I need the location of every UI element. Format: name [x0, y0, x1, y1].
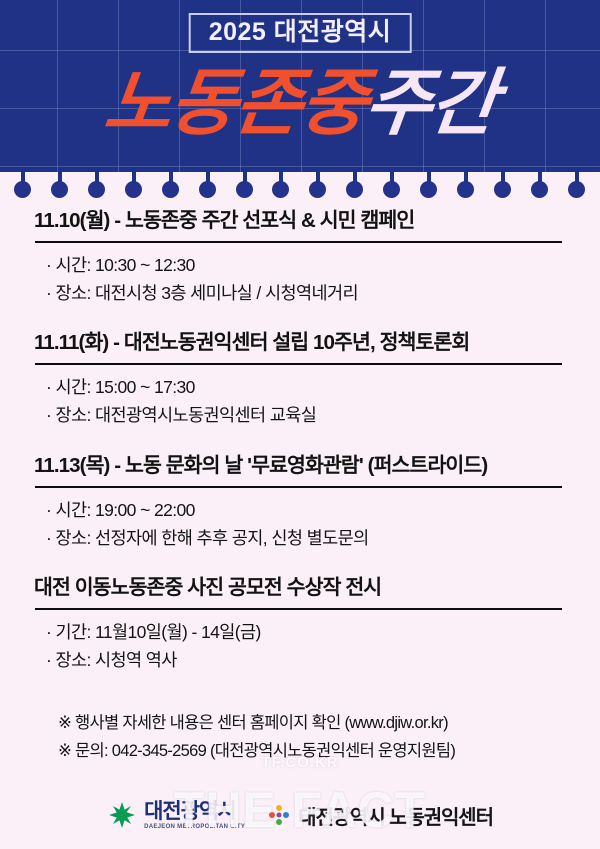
labor-center-logo-text: 대전광역시 노동권익센터 [298, 801, 493, 830]
pin-head [125, 181, 142, 198]
pin-head [272, 181, 289, 198]
section-spacer [34, 675, 566, 691]
pin-decoration [494, 172, 512, 198]
main-title-part-1: 노동존중 [100, 67, 370, 140]
footer-logos: 대전광역시 DAEJEON METROPOLITAN CITY 대전광역시 노동… [0, 787, 600, 843]
pin-decoration-row [0, 172, 600, 198]
event-divider [35, 608, 562, 610]
year-badge-label: 2025 대전광역시 [209, 19, 392, 45]
pin-head [383, 181, 400, 198]
section-spacer [34, 430, 566, 446]
daejeon-logo-text: 대전광역시 [144, 801, 245, 822]
event-heading: 11.13(목) - 노동 문화의 날 '무료영화관람' (퍼스트라이드) [34, 451, 566, 481]
pin-decoration [383, 172, 401, 198]
pin-head [346, 181, 363, 198]
main-title-part-2: 주간 [361, 67, 500, 140]
pin-head [162, 181, 179, 198]
pin-head [494, 181, 511, 198]
event-heading: 대전 이동노동존중 사진 공모전 수상작 전시 [34, 573, 566, 603]
event-divider [35, 241, 562, 243]
daejeon-logo-text-wrap: 대전광역시 DAEJEON METROPOLITAN CITY [144, 801, 245, 830]
daejeon-city-logo: 대전광역시 DAEJEON METROPOLITAN CITY [107, 800, 245, 830]
pin-head [420, 181, 437, 198]
pin-decoration [420, 172, 438, 198]
section-spacer [34, 307, 566, 323]
poster-header: 2025 대전광역시 노동존중주간 [0, 0, 600, 172]
event-detail-line: · 시간: 19:00 ~ 22:00 [34, 496, 566, 524]
footer-notes: ※ 행사별 자세한 내용은 센터 홈페이지 확인 (www.djiw.or.kr… [34, 709, 566, 766]
event-detail-line: · 장소: 시청역 역사 [34, 646, 566, 674]
event-detail-line: · 장소: 대전시청 3층 세미나실 / 시청역네거리 [34, 279, 566, 307]
event-heading: 11.10(월) - 노동존중 주간 선포식 & 시민 캠페인 [34, 206, 566, 236]
event-divider [35, 363, 562, 365]
event-section: 11.10(월) - 노동존중 주간 선포식 & 시민 캠페인· 시간: 10:… [34, 206, 566, 323]
daejeon-pinwheel-icon [107, 800, 137, 830]
pin-decoration [51, 172, 69, 198]
event-divider [35, 486, 562, 488]
pin-head [14, 181, 31, 198]
event-detail-line: · 기간: 11월10일(월) - 14일(금) [34, 618, 566, 646]
pin-decoration [162, 172, 180, 198]
footer-note-line: ※ 행사별 자세한 내용은 센터 홈페이지 확인 (www.djiw.or.kr… [58, 709, 566, 737]
event-list: 11.10(월) - 노동존중 주간 선포식 & 시민 캠페인· 시간: 10:… [0, 206, 600, 765]
event-heading: 11.11(화) - 대전노동권익센터 설립 10주년, 정책토론회 [34, 328, 566, 358]
pin-decoration [272, 172, 290, 198]
pin-decoration [531, 172, 549, 198]
pin-head [568, 181, 585, 198]
year-badge: 2025 대전광역시 [189, 13, 412, 53]
pin-decoration [346, 172, 364, 198]
pin-head [88, 181, 105, 198]
event-detail-line: · 장소: 대전광역시노동권익센터 교육실 [34, 401, 566, 429]
pin-decoration [88, 172, 106, 198]
pin-head [309, 181, 326, 198]
event-section: 11.13(목) - 노동 문화의 날 '무료영화관람' (퍼스트라이드)· 시… [34, 451, 566, 568]
pin-decoration [199, 172, 217, 198]
pin-head [457, 181, 474, 198]
pin-decoration [309, 172, 327, 198]
event-section: 11.11(화) - 대전노동권익센터 설립 10주년, 정책토론회· 시간: … [34, 328, 566, 445]
labor-center-mark-icon [267, 803, 291, 827]
poster-main-title: 노동존중주간 [0, 67, 600, 140]
pin-head [531, 181, 548, 198]
pin-head [51, 181, 68, 198]
labor-center-logo: 대전광역시 노동권익센터 [267, 801, 493, 830]
event-detail-line: · 장소: 선정자에 한해 추후 공지, 신청 별도문의 [34, 524, 566, 552]
pin-decoration [14, 172, 32, 198]
pin-decoration [457, 172, 475, 198]
section-spacer [34, 552, 566, 568]
pin-head [236, 181, 253, 198]
poster-root: 2025 대전광역시 노동존중주간 11.10(월) - 노동존중 주간 선포식… [0, 0, 600, 849]
footer-note-line: ※ 문의: 042-345-2569 (대전광역시노동권익센터 운영지원팀) [58, 737, 566, 765]
pin-decoration [236, 172, 254, 198]
daejeon-logo-subtext: DAEJEON METROPOLITAN CITY [144, 824, 245, 830]
event-detail-line: · 시간: 10:30 ~ 12:30 [34, 251, 566, 279]
pin-head [199, 181, 216, 198]
pin-decoration [568, 172, 586, 198]
pin-decoration [125, 172, 143, 198]
event-section: 대전 이동노동존중 사진 공모전 수상작 전시· 기간: 11월10일(월) -… [34, 573, 566, 690]
event-detail-line: · 시간: 15:00 ~ 17:30 [34, 373, 566, 401]
